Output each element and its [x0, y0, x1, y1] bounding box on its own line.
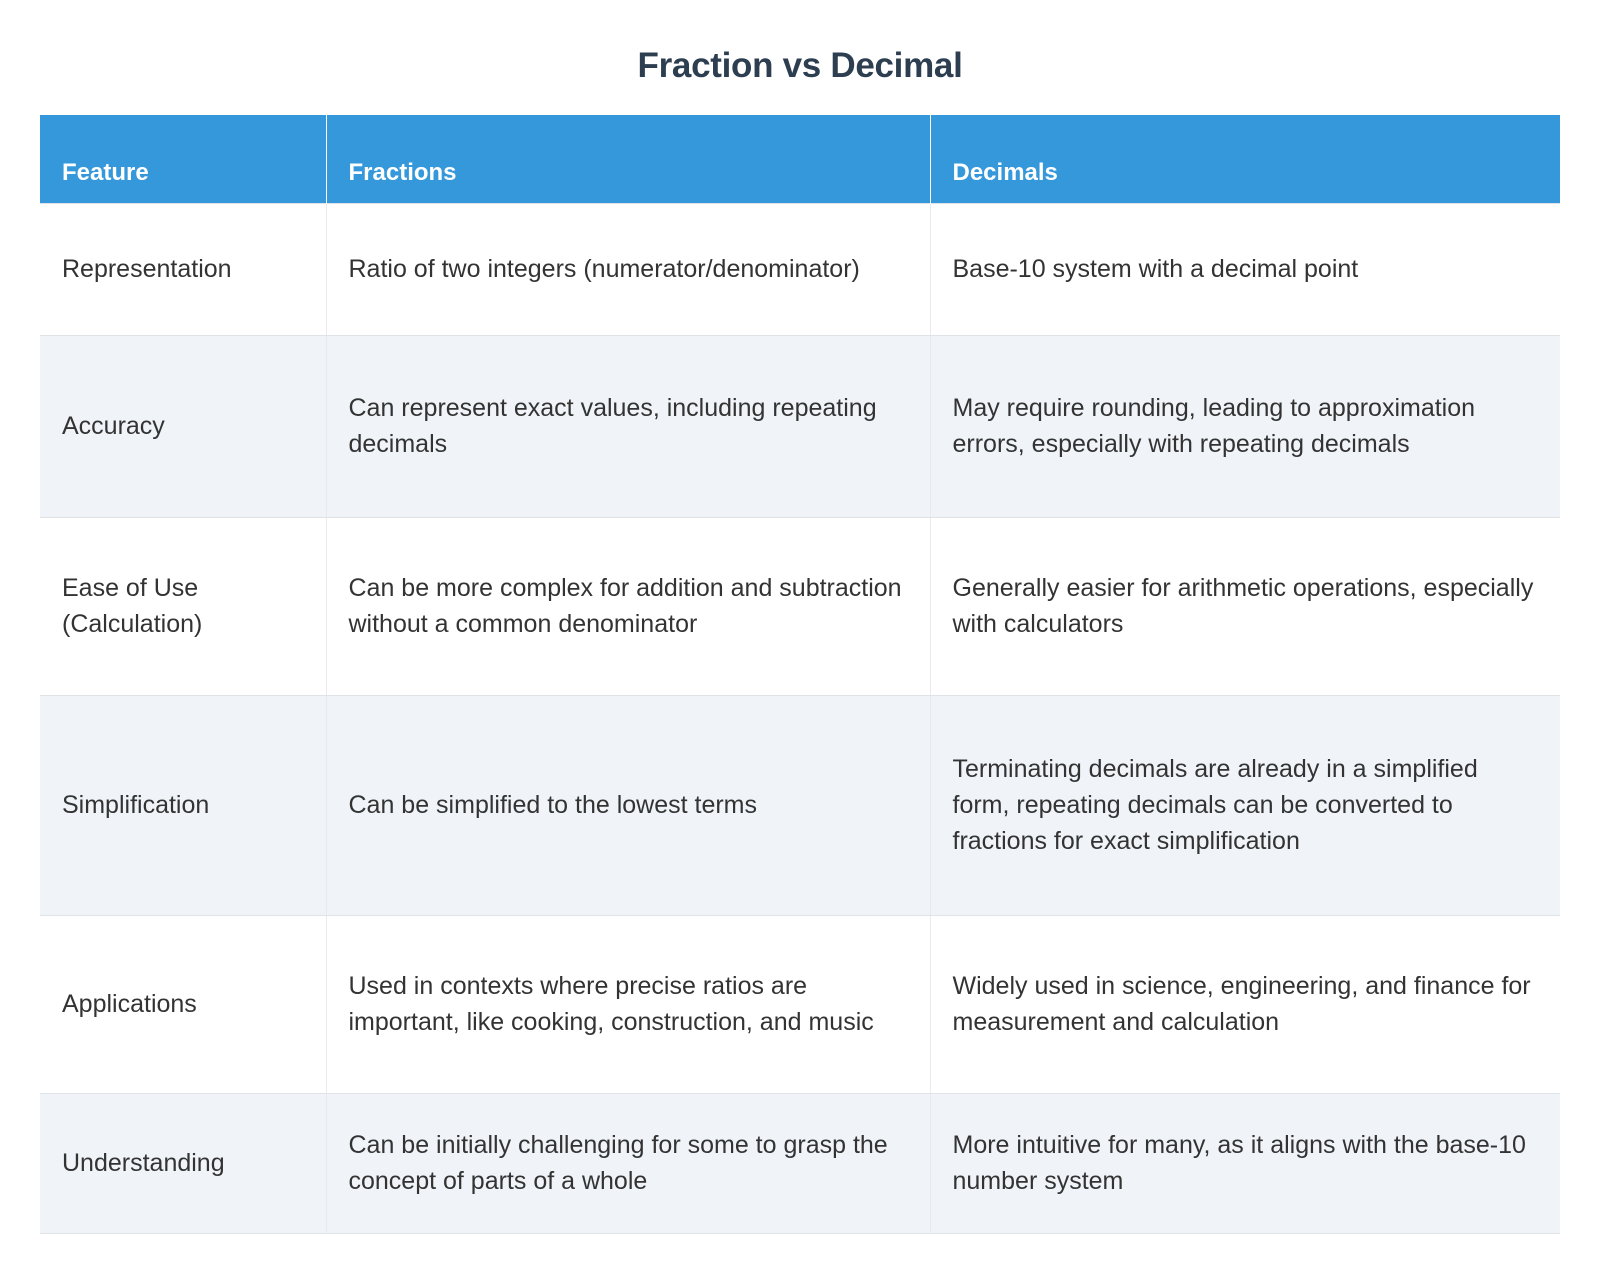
cell-feature: Simplification [40, 695, 326, 915]
cell-decimals: Base-10 system with a decimal point [930, 203, 1560, 335]
cell-fractions: Can represent exact values, including re… [326, 335, 930, 517]
page-title: Fraction vs Decimal [0, 0, 1600, 86]
cell-fractions: Can be more complex for addition and sub… [326, 517, 930, 695]
table-row: Representation Ratio of two integers (nu… [40, 203, 1560, 335]
column-header-feature: Feature [40, 115, 326, 203]
cell-fractions: Can be initially challenging for some to… [326, 1093, 930, 1233]
table-row: Applications Used in contexts where prec… [40, 915, 1560, 1093]
cell-feature: Representation [40, 203, 326, 335]
table-row: Ease of Use (Calculation) Can be more co… [40, 517, 1560, 695]
cell-feature: Applications [40, 915, 326, 1093]
cell-decimals: Widely used in science, engineering, and… [930, 915, 1560, 1093]
cell-fractions: Used in contexts where precise ratios ar… [326, 915, 930, 1093]
table-row: Accuracy Can represent exact values, inc… [40, 335, 1560, 517]
cell-decimals: Terminating decimals are already in a si… [930, 695, 1560, 915]
cell-feature: Ease of Use (Calculation) [40, 517, 326, 695]
column-header-decimals: Decimals [930, 115, 1560, 203]
comparison-table: Feature Fractions Decimals Representatio… [40, 115, 1560, 1234]
cell-feature: Understanding [40, 1093, 326, 1233]
cell-decimals: Generally easier for arithmetic operatio… [930, 517, 1560, 695]
table-row: Simplification Can be simplified to the … [40, 695, 1560, 915]
table-header: Feature Fractions Decimals [40, 115, 1560, 203]
table-row: Understanding Can be initially challengi… [40, 1093, 1560, 1233]
column-header-fractions: Fractions [326, 115, 930, 203]
comparison-table-wrapper: Feature Fractions Decimals Representatio… [40, 115, 1560, 1234]
cell-decimals: May require rounding, leading to approxi… [930, 335, 1560, 517]
cell-feature: Accuracy [40, 335, 326, 517]
table-body: Representation Ratio of two integers (nu… [40, 203, 1560, 1233]
cell-fractions: Ratio of two integers (numerator/denomin… [326, 203, 930, 335]
cell-fractions: Can be simplified to the lowest terms [326, 695, 930, 915]
table-header-row: Feature Fractions Decimals [40, 115, 1560, 203]
cell-decimals: More intuitive for many, as it aligns wi… [930, 1093, 1560, 1233]
page-root: Fraction vs Decimal Feature Fractions De… [0, 0, 1600, 1264]
